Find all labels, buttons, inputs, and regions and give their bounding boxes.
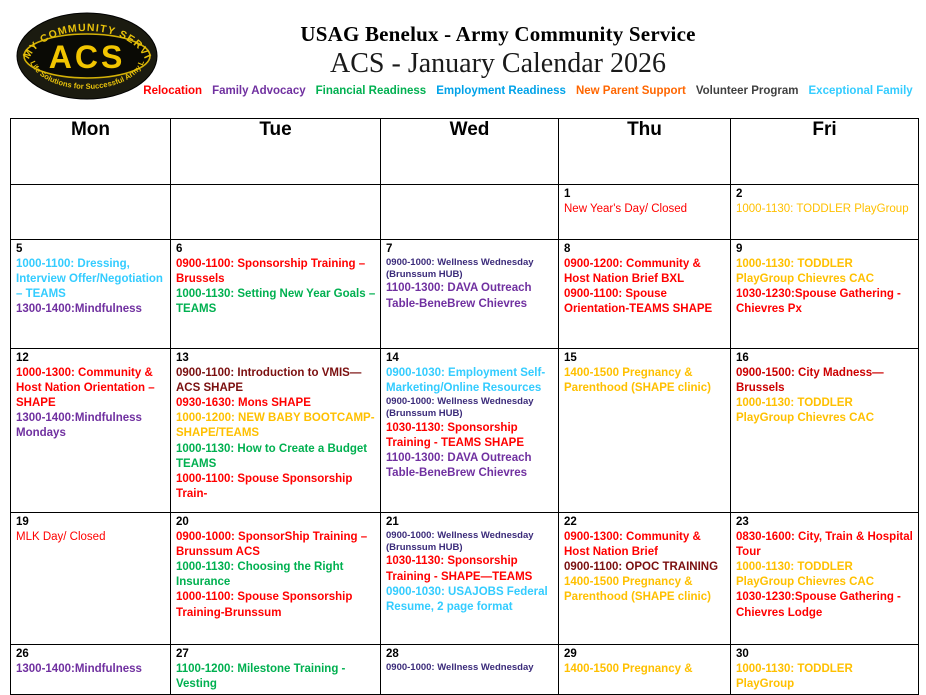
day-cell-27[interactable]: 271100-1200: Milestone Training - Vestin… [171,645,381,695]
legend-item-family-advocacy: Family Advocacy [212,85,306,97]
calendar-table: Mon Tue Wed Thu Fri 1New Year's Day/ Clo… [10,118,919,695]
calendar-week-row: 121000-1300: Community & Host Nation Ori… [11,349,919,513]
day-events: 1000-1130: TODDLER PlayGroup [731,662,918,694]
day-header-fri: Fri [731,119,919,185]
day-events: 1000-1130: TODDLER PlayGroup Chievres CA… [731,257,918,320]
day-events: 1000-1100: Dressing, Interview Offer/Neg… [11,257,170,320]
calendar-event[interactable]: 0900-1200: Community & Host Nation Brief… [564,257,726,287]
day-cell-13[interactable]: 130900-1100: Introduction to VMIS—ACS SH… [171,349,381,513]
day-events: 0900-1000: Wellness Wednesday [381,662,558,676]
day-events: 0900-1100: Introduction to VMIS—ACS SHAP… [171,366,380,505]
day-cell-20[interactable]: 200900-1000: SponsorShip Training – Brun… [171,513,381,645]
day-header-thu: Thu [559,119,731,185]
day-cell-14[interactable]: 140900-1030: Employment Self-Marketing/O… [381,349,559,513]
day-cell-21[interactable]: 210900-1000: Wellness Wednesday (Brunssu… [381,513,559,645]
day-events: New Year's Day/ Closed [559,202,730,219]
day-events: 0900-1300: Community & Host Nation Brief… [559,530,730,608]
day-number: 6 [171,240,380,257]
day-number: 5 [11,240,170,257]
day-cell-empty[interactable] [381,185,559,240]
day-header-wed: Wed [381,119,559,185]
calendar-event[interactable]: 1300-1400:Mindfulness [16,302,166,317]
day-number: 30 [731,645,918,662]
calendar-event[interactable]: 1000-1100: Spouse Sponsorship Train- [176,472,376,502]
day-cell-9[interactable]: 91000-1130: TODDLER PlayGroup Chievres C… [731,240,919,349]
calendar-event[interactable]: 1000-1130: How to Create a Budget TEAMS [176,442,376,472]
calendar-body: 1New Year's Day/ Closed21000-1130: TODDL… [11,185,919,695]
day-events: 1100-1200: Milestone Training - Vesting [171,662,380,694]
day-number: 14 [381,349,558,366]
day-events: 0900-1000: Wellness Wednesday (Brunssum … [381,257,558,314]
calendar-event[interactable]: 1030-1230:Spouse Gathering - Chievres Lo… [736,590,914,620]
day-number: 28 [381,645,558,662]
day-cell-16[interactable]: 160900-1500: City Madness—Brussels1000-1… [731,349,919,513]
day-events: 0830-1600: City, Train & Hospital Tour10… [731,530,918,623]
calendar-week-row: 19MLK Day/ Closed200900-1000: SponsorShi… [11,513,919,645]
calendar-event[interactable]: New Year's Day/ Closed [564,202,726,217]
page-title: USAG Benelux - Army Community Service [70,22,926,46]
calendar-event[interactable]: 0900-1000: Wellness Wednesday [386,662,554,674]
day-cell-empty[interactable] [11,185,171,240]
day-cell-23[interactable]: 230830-1600: City, Train & Hospital Tour… [731,513,919,645]
day-number: 9 [731,240,918,257]
day-cell-6[interactable]: 60900-1100: Sponsorship Training – Bruss… [171,240,381,349]
calendar-event[interactable]: 1030-1130: Sponsorship Training - SHAPE—… [386,554,554,584]
svg-text:ACS: ACS [49,39,126,75]
legend-item-employment-readiness: Employment Readiness [436,85,566,97]
day-events: 0900-1200: Community & Host Nation Brief… [559,257,730,320]
day-cell-2[interactable]: 21000-1130: TODDLER PlayGroup [731,185,919,240]
day-cell-28[interactable]: 280900-1000: Wellness Wednesday [381,645,559,695]
calendar-event[interactable]: 1400-1500 Pregnancy & [564,662,726,677]
day-events: MLK Day/ Closed [11,530,170,547]
calendar-container: Mon Tue Wed Thu Fri 1New Year's Day/ Clo… [10,118,918,695]
day-events: 1000-1300: Community & Host Nation Orien… [11,366,170,444]
day-header-mon: Mon [11,119,171,185]
day-number: 1 [559,185,730,202]
day-cell-26[interactable]: 261300-1400:Mindfulness [11,645,171,695]
day-number: 2 [731,185,918,202]
calendar-event[interactable]: 1000-1130: TODDLER PlayGroup [736,202,914,217]
day-number: 16 [731,349,918,366]
day-cell-19[interactable]: 19MLK Day/ Closed [11,513,171,645]
day-cell-7[interactable]: 70900-1000: Wellness Wednesday (Brunssum… [381,240,559,349]
calendar-event[interactable]: 1000-1200: NEW BABY BOOTCAMP-SHAPE/TEAMS [176,411,376,441]
day-cell-15[interactable]: 151400-1500 Pregnancy & Parenthood (SHAP… [559,349,731,513]
calendar-event[interactable]: 1000-1100: Spouse Sponsorship Training-B… [176,590,376,620]
calendar-event[interactable]: 1030-1130: Sponsorship Training - TEAMS … [386,421,554,451]
day-number: 27 [171,645,380,662]
day-number: 26 [11,645,170,662]
calendar-week-row: 1New Year's Day/ Closed21000-1130: TODDL… [11,185,919,240]
calendar-event[interactable]: 0900-1000: Wellness Wednesday (Brunssum … [386,396,554,421]
day-events: 0900-1500: City Madness—Brussels1000-113… [731,366,918,429]
day-events: 0900-1100: Sponsorship Training – Brusse… [171,257,380,320]
legend-item-new-parent-support: New Parent Support [576,85,686,97]
calendar-event[interactable]: 1100-1300: DAVA Outreach Table-BeneBrew … [386,451,554,481]
calendar-event[interactable]: 1000-1100: Dressing, Interview Offer/Neg… [16,257,166,303]
calendar-event[interactable]: 0900-1030: Employment Self-Marketing/Onl… [386,366,554,396]
day-number: 19 [11,513,170,530]
day-number: 22 [559,513,730,530]
day-events [381,189,558,191]
calendar-event[interactable]: 1000-1130: TODDLER PlayGroup [736,662,914,692]
day-number: 29 [559,645,730,662]
calendar-event[interactable]: 0900-1000: Wellness Wednesday (Brunssum … [386,257,554,282]
calendar-event[interactable]: 0830-1600: City, Train & Hospital Tour [736,530,914,560]
day-header-tue: Tue [171,119,381,185]
calendar-event[interactable]: 0930-1630: Mons SHAPE [176,396,376,411]
day-events: 0900-1000: SponsorShip Training – Brunss… [171,530,380,623]
day-events: 0900-1000: Wellness Wednesday (Brunssum … [381,530,558,617]
day-events [171,189,380,191]
day-number: 7 [381,240,558,257]
calendar-event[interactable]: 0900-1100: Spouse Orientation-TEAMS SHAP… [564,287,726,317]
legend-item-financial-readiness: Financial Readiness [316,85,427,97]
calendar-event[interactable]: 0900-1000: SponsorShip Training – Brunss… [176,530,376,560]
calendar-event[interactable]: 0900-1100: OPOC TRAINING [564,560,726,575]
day-number: 23 [731,513,918,530]
calendar-event[interactable]: 1300-1400:Mindfulness Mondays [16,411,166,441]
calendar-event[interactable]: 0900-1300: Community & Host Nation Brief [564,530,726,560]
day-cell-5[interactable]: 51000-1100: Dressing, Interview Offer/Ne… [11,240,171,349]
calendar-event[interactable]: 1000-1130: Choosing the Right Insurance [176,560,376,590]
calendar-event[interactable]: 1000-1130: TODDLER PlayGroup Chievres CA… [736,257,914,287]
calendar-event[interactable]: 1000-1130: Setting New Year Goals – TEAM… [176,287,376,317]
calendar-event[interactable]: 0900-1100: Sponsorship Training – Brusse… [176,257,376,287]
day-number: 15 [559,349,730,366]
day-number: 20 [171,513,380,530]
legend-item-exceptional-family: Exceptional Family [809,85,913,97]
calendar-event[interactable]: 1300-1400:Mindfulness [16,662,166,677]
day-cell-22[interactable]: 220900-1300: Community & Host Nation Bri… [559,513,731,645]
calendar-event[interactable]: 0900-1100: Introduction to VMIS—ACS SHAP… [176,366,376,396]
calendar-week-row: 261300-1400:Mindfulness271100-1200: Mile… [11,645,919,695]
calendar-event[interactable]: 1000-1300: Community & Host Nation Orien… [16,366,166,412]
calendar-event[interactable]: 1000-1130: TODDLER PlayGroup Chievres CA… [736,396,914,426]
calendar-week-row: 51000-1100: Dressing, Interview Offer/Ne… [11,240,919,349]
day-cell-12[interactable]: 121000-1300: Community & Host Nation Ori… [11,349,171,513]
day-events [11,189,170,191]
calendar-header-row: Mon Tue Wed Thu Fri [11,119,919,185]
day-events: 1300-1400:Mindfulness [11,662,170,679]
calendar-event[interactable]: 0900-1500: City Madness—Brussels [736,366,914,396]
day-cell-1[interactable]: 1New Year's Day/ Closed [559,185,731,240]
calendar-event[interactable]: 0900-1030: USAJOBS Federal Resume, 2 pag… [386,585,554,615]
day-cell-empty[interactable] [171,185,381,240]
calendar-event[interactable]: 1100-1200: Milestone Training - Vesting [176,662,376,692]
day-events: 1400-1500 Pregnancy & [559,662,730,679]
day-cell-30[interactable]: 301000-1130: TODDLER PlayGroup [731,645,919,695]
calendar-event[interactable]: 0900-1000: Wellness Wednesday (Brunssum … [386,530,554,555]
calendar-event[interactable]: 1100-1300: DAVA Outreach Table-BeneBrew … [386,281,554,311]
day-cell-8[interactable]: 80900-1200: Community & Host Nation Brie… [559,240,731,349]
day-number: 21 [381,513,558,530]
calendar-event[interactable]: 1400-1500 Pregnancy & Parenthood (SHAPE … [564,575,726,605]
category-legend: RelocationFamily AdvocacyFinancial Readi… [70,85,926,97]
calendar-event[interactable]: MLK Day/ Closed [16,530,166,545]
day-events: 0900-1030: Employment Self-Marketing/Onl… [381,366,558,484]
day-number: 8 [559,240,730,257]
page-header: ARMY COMMUNITY SERVICE ACS Real-Life Sol… [0,0,926,110]
day-cell-29[interactable]: 291400-1500 Pregnancy & [559,645,731,695]
acs-logo: ARMY COMMUNITY SERVICE ACS Real-Life Sol… [12,10,162,102]
calendar-event[interactable]: 1400-1500 Pregnancy & Parenthood (SHAPE … [564,366,726,396]
day-events: 1000-1130: TODDLER PlayGroup [731,202,918,219]
calendar-event[interactable]: 1030-1230:Spouse Gathering - Chievres Px [736,287,914,317]
page-subtitle: ACS - January Calendar 2026 [70,47,926,81]
day-events: 1400-1500 Pregnancy & Parenthood (SHAPE … [559,366,730,398]
calendar-event[interactable]: 1000-1130: TODDLER PlayGroup Chievres CA… [736,560,914,590]
day-number: 13 [171,349,380,366]
legend-item-volunteer-program: Volunteer Program [696,85,799,97]
day-number: 12 [11,349,170,366]
